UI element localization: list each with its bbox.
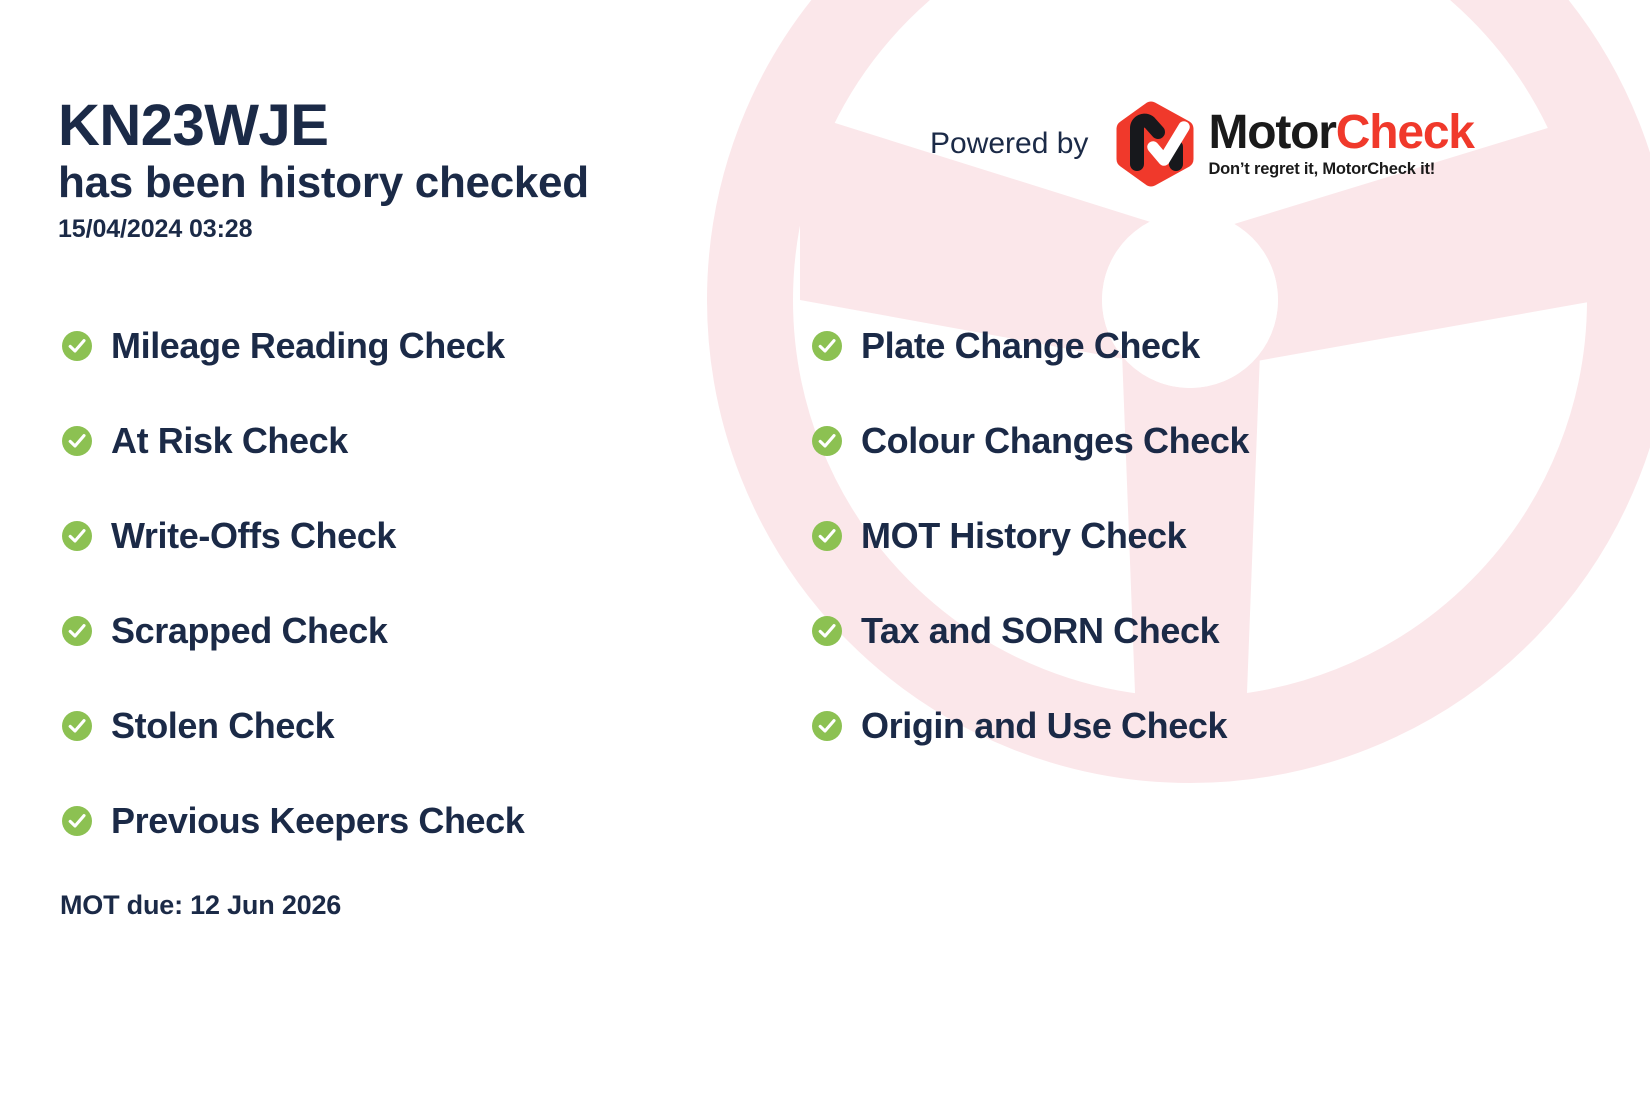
check-label: Scrapped Check (111, 613, 388, 649)
check-list-right: Plate Change Check Colour Changes Check … (812, 322, 1249, 797)
logo-tagline: Don’t regret it, MotorCheck it! (1208, 160, 1473, 179)
mot-due-label: MOT due: 12 Jun 2026 (60, 890, 341, 921)
check-circle-icon (62, 616, 92, 646)
motorcheck-wordmark: MotorCheck Don’t regret it, MotorCheck i… (1208, 109, 1473, 179)
check-circle-icon (812, 521, 842, 551)
check-item: Origin and Use Check (812, 702, 1249, 750)
check-circle-icon (812, 616, 842, 646)
check-circle-icon (812, 426, 842, 456)
page-title: has been history checked (58, 157, 589, 209)
check-circle-icon (62, 521, 92, 551)
check-label: Origin and Use Check (861, 708, 1227, 744)
check-label: At Risk Check (111, 423, 348, 459)
vehicle-history-check-card: KN23WJE has been history checked 15/04/2… (0, 0, 1650, 1100)
motorcheck-hexagon-icon (1114, 100, 1196, 188)
check-label: Colour Changes Check (861, 423, 1249, 459)
check-item: Stolen Check (62, 702, 524, 750)
check-circle-icon (62, 806, 92, 836)
check-item: Colour Changes Check (812, 417, 1249, 465)
check-item: MOT History Check (812, 512, 1249, 560)
check-list-left: Mileage Reading Check At Risk Check Writ… (62, 322, 524, 892)
check-item: Plate Change Check (812, 322, 1249, 370)
check-circle-icon (812, 331, 842, 361)
check-circle-icon (812, 711, 842, 741)
check-label: Previous Keepers Check (111, 803, 524, 839)
powered-by-label: Powered by (930, 127, 1088, 161)
check-label: Mileage Reading Check (111, 328, 505, 364)
check-item: Scrapped Check (62, 607, 524, 655)
check-label: Plate Change Check (861, 328, 1200, 364)
check-item: At Risk Check (62, 417, 524, 465)
check-item: Mileage Reading Check (62, 322, 524, 370)
wordmark-line: MotorCheck (1208, 109, 1473, 157)
motorcheck-logo[interactable]: MotorCheck Don’t regret it, MotorCheck i… (1114, 100, 1473, 188)
check-label: MOT History Check (861, 518, 1186, 554)
check-item: Tax and SORN Check (812, 607, 1249, 655)
wordmark-motor: Motor (1208, 106, 1335, 159)
check-circle-icon (62, 426, 92, 456)
header-block: KN23WJE has been history checked 15/04/2… (58, 96, 589, 244)
powered-by-block: Powered by MotorCheck Don’t regret it, M… (930, 100, 1474, 188)
check-label: Tax and SORN Check (861, 613, 1219, 649)
check-circle-icon (62, 711, 92, 741)
card-content: KN23WJE has been history checked 15/04/2… (0, 0, 1650, 1100)
wordmark-check: Check (1336, 106, 1474, 159)
check-item: Previous Keepers Check (62, 797, 524, 845)
check-timestamp: 15/04/2024 03:28 (58, 215, 589, 244)
check-circle-icon (62, 331, 92, 361)
check-label: Write-Offs Check (111, 518, 396, 554)
check-label: Stolen Check (111, 708, 334, 744)
check-item: Write-Offs Check (62, 512, 524, 560)
registration-plate: KN23WJE (58, 96, 589, 155)
